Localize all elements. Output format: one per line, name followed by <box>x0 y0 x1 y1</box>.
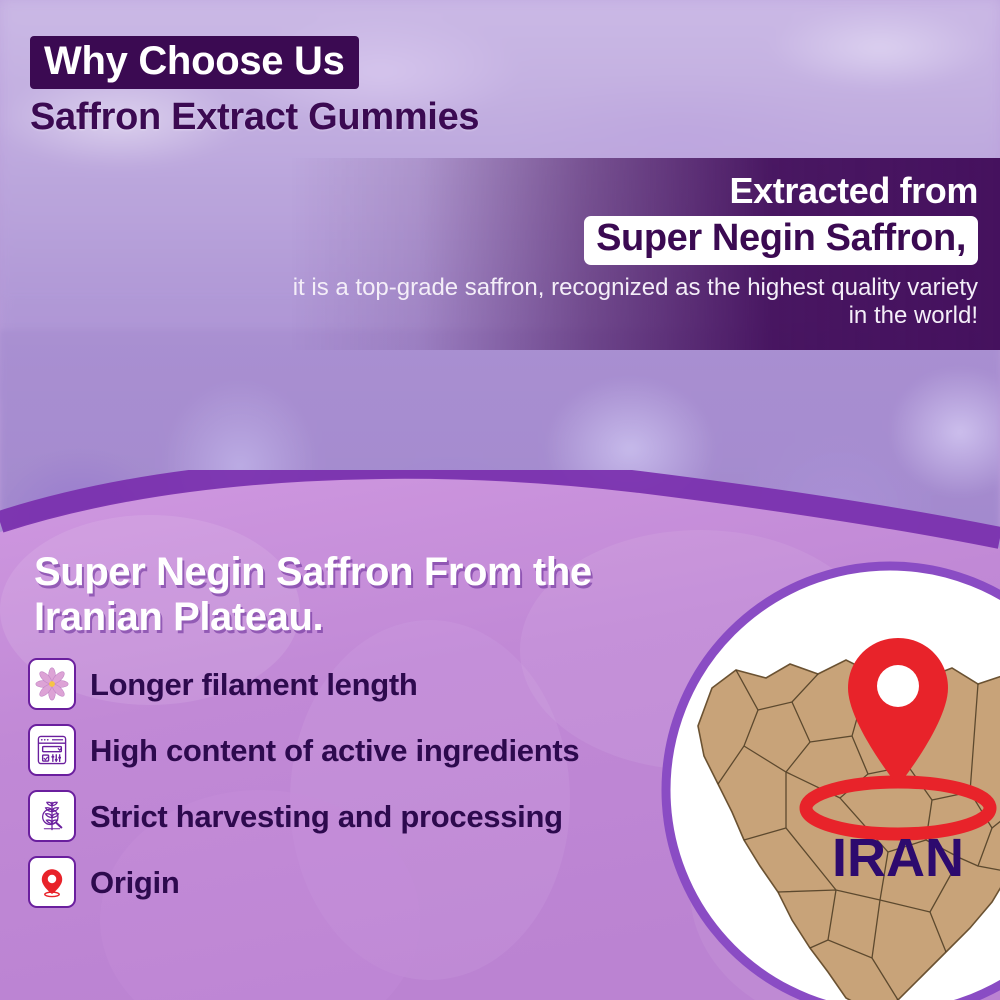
extracted-from-callout: Extracted from Super Negin Saffron, it i… <box>290 158 1000 350</box>
callout-highlight-wrapper: Super Negin Saffron, <box>290 216 978 265</box>
magnifier-plant-icon <box>28 790 76 842</box>
list-item-label: High content of active ingredients <box>90 735 579 766</box>
saffron-flower-icon <box>28 658 76 710</box>
list-item: Origin <box>28 856 688 908</box>
list-item: Longer filament length <box>28 658 688 710</box>
dashboard-panel-icon <box>28 724 76 776</box>
page-subtitle: Saffron Extract Gummies <box>30 98 479 138</box>
bottom-heading: Super Negin Saffron From the Iranian Pla… <box>34 550 694 640</box>
callout-highlight: Super Negin Saffron, <box>584 216 978 265</box>
infographic-poster: Why Choose Us Saffron Extract Gummies Ex… <box>0 0 1000 1000</box>
callout-description: it is a top-grade saffron, recognized as… <box>290 274 978 331</box>
country-label: IRAN <box>832 828 964 888</box>
page-title-group: Why Choose Us Saffron Extract Gummies <box>30 36 479 138</box>
list-item: Strict harvesting and processing <box>28 790 688 842</box>
list-item-label: Longer filament length <box>90 669 418 700</box>
list-item-label: Strict harvesting and processing <box>90 801 563 832</box>
list-item-label: Origin <box>90 867 179 898</box>
callout-line-1: Extracted from <box>290 172 978 210</box>
list-item: High content of active ingredients <box>28 724 688 776</box>
map-pin-icon <box>28 856 76 908</box>
feature-list: Longer filament length <box>28 658 688 922</box>
why-choose-us-badge: Why Choose Us <box>30 36 359 89</box>
iran-map-inset: IRAN <box>640 560 1000 1000</box>
